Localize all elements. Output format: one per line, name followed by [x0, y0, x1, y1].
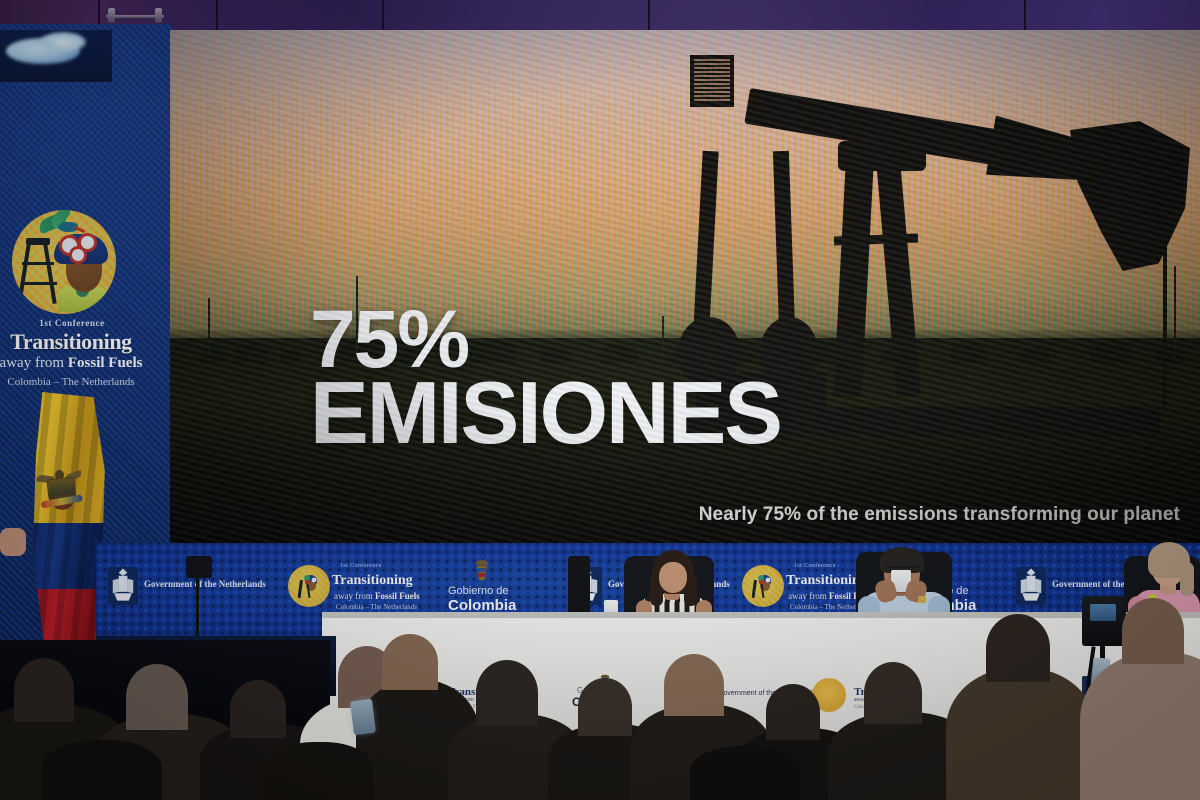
pumpjack-ladder [690, 55, 734, 107]
table-nl-label-1: Government of the Netherlands [718, 690, 816, 697]
conference-title: Transitioning [0, 329, 146, 355]
hummingbird-icon [38, 210, 84, 244]
conference-subtitle: away from Fossil Fuels [0, 355, 146, 372]
table-conf-countries-1: Colombia – The Netherlands [448, 705, 506, 710]
table-conference-logo-2 [812, 678, 846, 712]
table-colombia-line2-2: Colombia [972, 695, 1027, 709]
microphone-head-left [186, 556, 212, 578]
backdrop-conf-title-1: Transitioning [332, 573, 413, 589]
screen-subtitle: Nearly 75% of the emissions transforming… [620, 504, 1180, 526]
colombia-coat-of-arms-icon [35, 466, 86, 523]
conference-logo: 1st Conference Transitioning away from F… [2, 196, 142, 386]
table-colombia-line2-1: Colombia [572, 695, 627, 709]
conference-countries: Colombia – The Netherlands [0, 376, 146, 388]
table-nl-label-2: Government of the Netherlands [1118, 690, 1200, 697]
backdrop-conf-eyebrow-2: 1st Conference [794, 563, 836, 569]
camera-display-screen [1090, 604, 1116, 621]
backdrop-conf-title-2: Transitioning [786, 573, 867, 589]
backdrop-conference-logo-2 [742, 565, 784, 607]
conference-eyebrow: 1st Conference [2, 318, 142, 328]
phone-screen-audience [350, 699, 376, 735]
phone-screen-right [1091, 657, 1111, 687]
led-presentation-screen: 75% EMISIONES Nearly 75% of the emission… [170, 30, 1200, 543]
table-conference-logo-1 [406, 678, 440, 712]
colombia-coat-of-arms-icon-1 [472, 559, 492, 583]
ceiling-truss-icon [106, 8, 164, 24]
table-colombia-line1-2: Gobierno de [977, 686, 1021, 695]
netherlands-crest-1 [108, 567, 138, 605]
cloud-image-fragment [0, 30, 112, 82]
press-conference-scene: 1st Conference Transitioning away from F… [0, 0, 1200, 800]
netherlands-crest-3 [1016, 567, 1046, 605]
backdrop-conf-eyebrow-1: 1st Conference [340, 563, 382, 569]
table-colombia-line1-1: Gobierno de [577, 686, 621, 695]
screen-headline-word: EMISIONES [310, 373, 1050, 454]
backdrop-nl-label-1: Government of the Netherlands [144, 579, 266, 589]
table-conf-countries-2: Colombia – The Netherlands [854, 705, 912, 710]
partial-hand [0, 528, 26, 556]
backdrop-conf-countries-1: Colombia – The Netherlands [336, 603, 417, 611]
conference-logo-icon [12, 210, 116, 314]
backdrop-conf-sub-1: away from Fossil Fuels [334, 591, 420, 601]
microphone-left [568, 556, 590, 614]
table-netherlands-crest-1 [682, 676, 712, 714]
backdrop-colombia-line1-1: Gobierno de [448, 585, 509, 597]
table-conf-sub-2: away from Fossil Fuels [854, 697, 910, 703]
table-conf-sub-1: away from Fossil Fuels [448, 697, 504, 703]
backdrop-conference-logo-1 [288, 565, 330, 607]
ceiling-panels [0, 0, 1200, 30]
dark-foreground-left [0, 640, 330, 800]
table-front-logos: Transitioning away from Fossil Fuels Col… [322, 672, 1200, 724]
screen-headline: 75% EMISIONES [310, 302, 1050, 454]
